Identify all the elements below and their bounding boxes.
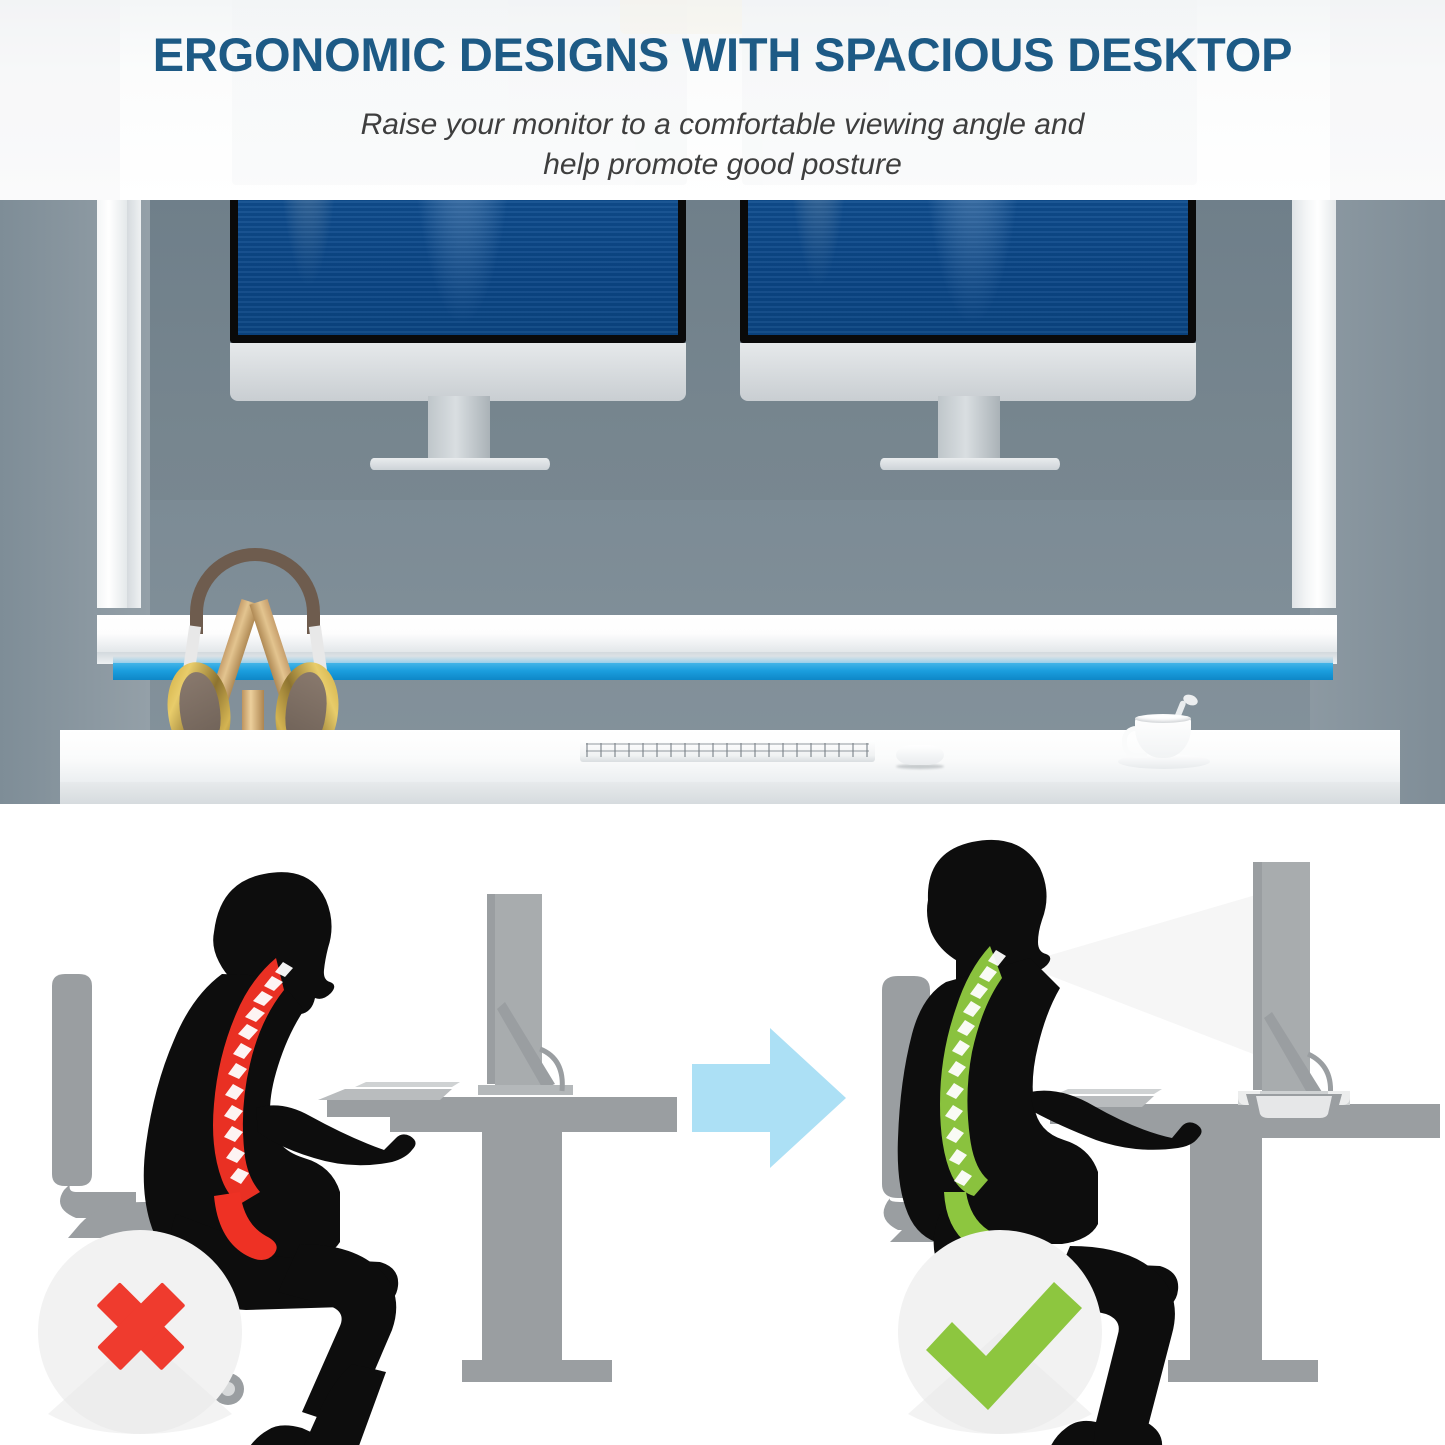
subtitle-line-2: help promote good posture	[0, 145, 1445, 185]
desk-top-edge	[60, 782, 1400, 804]
monitor-chin	[740, 343, 1196, 401]
monitor-screen	[748, 200, 1188, 335]
subtitle-line-1: Raise your monitor to a comfortable view…	[0, 105, 1445, 145]
desk-good	[1050, 1104, 1440, 1382]
arrow-right-icon	[692, 1028, 846, 1168]
infographic-page: ERGONOMIC DESIGNS WITH SPACIOUS DESKTOP …	[0, 0, 1445, 1445]
monitor-bad	[478, 894, 573, 1095]
hutch-post-right-inner	[1292, 200, 1306, 608]
bad-posture-illustration	[38, 872, 677, 1445]
monitor-chin	[230, 343, 686, 401]
monitor-riser	[1238, 1091, 1350, 1122]
monitor-screen	[238, 200, 678, 335]
status-badge-bad	[38, 1230, 242, 1434]
monitor-stand-neck	[938, 396, 1000, 464]
hutch-post-left	[97, 200, 127, 608]
posture-comparison	[0, 804, 1445, 1445]
keyboard	[580, 740, 875, 762]
monitor-good	[1253, 862, 1331, 1098]
product-photo	[0, 200, 1445, 804]
keyboard-bad	[318, 1082, 460, 1100]
headphone-headband	[190, 548, 320, 634]
hutch-post-left-inner	[127, 200, 141, 608]
mouse	[896, 745, 944, 765]
monitor-right	[740, 200, 1196, 400]
page-subtitle: Raise your monitor to a comfortable view…	[0, 105, 1445, 185]
monitor-bezel	[740, 200, 1196, 343]
monitor-bezel	[230, 200, 686, 343]
monitor-stand-foot	[370, 458, 550, 470]
header-banner: ERGONOMIC DESIGNS WITH SPACIOUS DESKTOP …	[0, 0, 1445, 200]
status-badge-good	[898, 1230, 1102, 1434]
hutch-post-right	[1306, 200, 1336, 608]
monitor-left	[230, 200, 686, 400]
page-title: ERGONOMIC DESIGNS WITH SPACIOUS DESKTOP	[0, 27, 1445, 82]
monitor-stand-foot	[880, 458, 1060, 470]
monitor-stand-neck	[428, 396, 490, 464]
